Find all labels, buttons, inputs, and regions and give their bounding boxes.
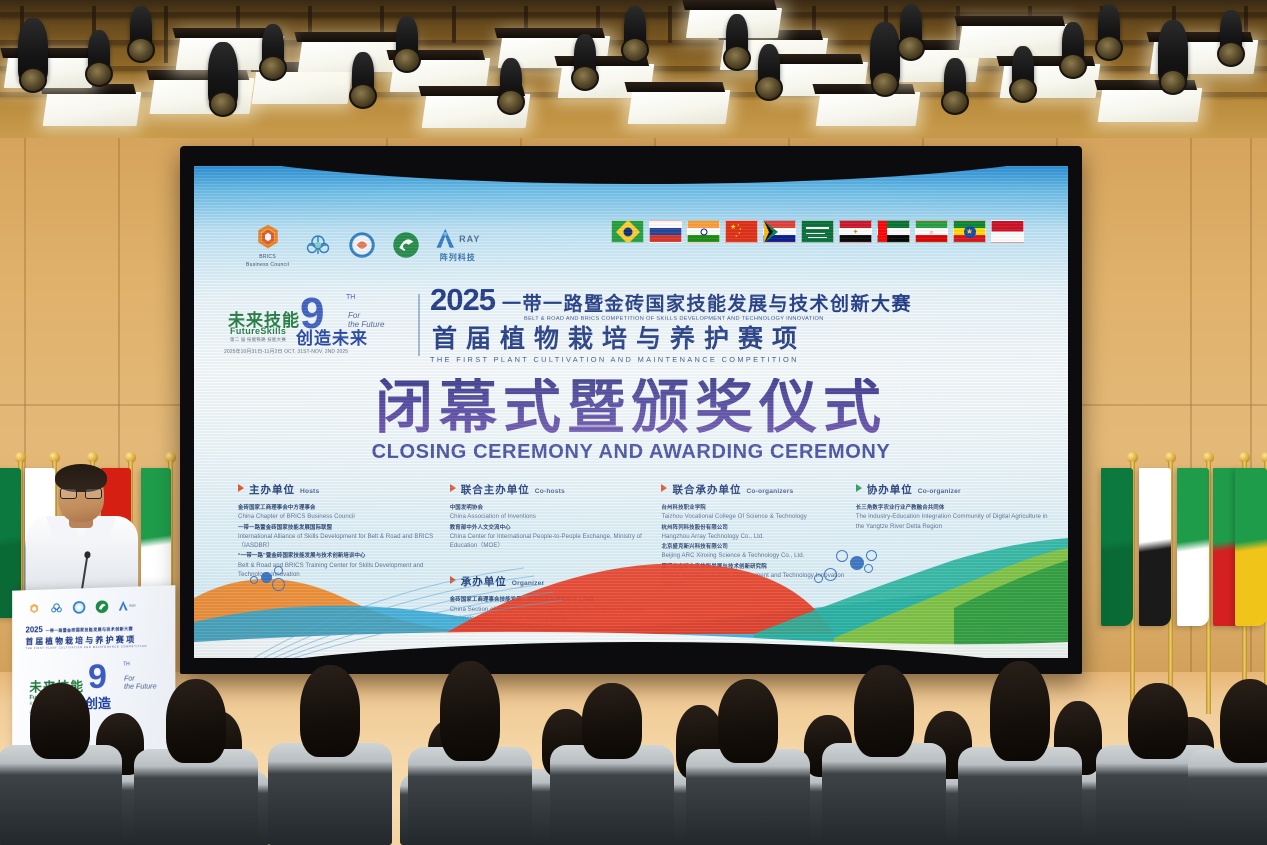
event-year: 2025 (430, 286, 495, 315)
audience-seat (958, 747, 1082, 845)
stage-spotlight (726, 14, 748, 60)
ceiling-led-panel (1098, 88, 1203, 122)
flag-ethiopia: ★ (953, 220, 986, 243)
cohosts-heading-en: Co-hosts (535, 488, 565, 495)
audience-seat (822, 743, 946, 845)
podium-title: 2025 一带一路暨金砖国家技能发展与技术创新大赛 首届植物栽培与养护赛项 TH… (26, 623, 148, 651)
brics-business-council-logo: BRICS Business Council (246, 222, 289, 268)
audience-seat (268, 743, 392, 845)
flag-egypt (1139, 468, 1171, 626)
event-title-cn-line1: 一带一路暨金砖国家技能发展与技术创新大赛 (502, 295, 912, 315)
org-entry-en: China Association of Inventions (450, 512, 662, 521)
stage-spotlight (1012, 46, 1034, 92)
truss-upright (452, 6, 456, 43)
org-entry-en: The Industry-Education Integration Commu… (856, 512, 1050, 530)
org-entry: 台州科技职业学院 Taizhou Vocational College Of S… (661, 504, 855, 522)
flag-south-africa (763, 220, 796, 243)
event-title-en-line2: THE FIRST PLANT CULTIVATION AND MAINTENA… (430, 355, 1044, 364)
stage-spotlight (396, 16, 418, 62)
hosts-heading: 主办单位 Hosts (238, 482, 450, 497)
coorganizer-heading-en: Co-organizer (918, 488, 961, 495)
flag-china: ★★★★★ (725, 220, 758, 243)
led-screen-frame: BRICS Business Council (180, 146, 1082, 674)
audience-head (30, 683, 90, 759)
organizer-column-coorganizer: 协办单位 Co-organizer 长三角数字农业行业产教融合共同体 The I… (856, 482, 1050, 533)
audience-seat (408, 747, 532, 845)
stage-spotlight (624, 6, 646, 52)
array-logo-cn: 阵列科技 (440, 252, 476, 263)
brics-logo-subcaption: Business Council (246, 262, 289, 268)
coorganizer-heading: 协办单位 Co-organizer (856, 482, 1050, 497)
brics-logo-caption: BRICS (259, 254, 276, 260)
audience-head (990, 661, 1050, 761)
stage-spotlight (130, 6, 152, 52)
flag-uae (1177, 468, 1209, 626)
flag-saudi-arabia (1101, 468, 1133, 626)
org-entry: 长三角数字农业行业产教融合共同体 The Industry-Education … (856, 504, 1050, 531)
hosts-heading-cn: 主办单位 (249, 482, 295, 497)
ceremony-headline: 闭幕式暨颁奖仪式 CLOSING CEREMONY AND AWARDING C… (194, 378, 1068, 464)
ceiling-led-panel (43, 92, 142, 126)
stage-spotlight (18, 18, 48, 82)
audience-seat (550, 745, 674, 845)
title-divider (418, 294, 420, 356)
decorative-wave-graphics (194, 538, 1068, 658)
future-skills-en: FutureSkills (230, 326, 286, 336)
org-entry-cn: 长三角数字农业行业产教融合共同体 (856, 504, 1050, 512)
screen-top-curve-mask (194, 166, 1068, 184)
stage-spotlight (574, 34, 596, 80)
audience-head (582, 683, 642, 759)
podium-title-cn1: 一带一路暨金砖国家技能发展与技术创新大赛 (46, 626, 133, 634)
triangle-marker-icon (238, 484, 244, 492)
ceiling-led-panel (628, 90, 731, 124)
speaker-glasses-icon (60, 488, 102, 499)
cohosts-heading-cn: 联合主办单位 (461, 482, 530, 497)
org-entry-cn: 一带一路暨金砖国家技能发展国际联盟 (238, 524, 450, 532)
sponsor-logo-row: BRICS Business Council (246, 222, 480, 268)
audience-seat (1188, 749, 1267, 845)
org-entry-cn: 金砖国家工商理事会中方理事会 (238, 504, 450, 512)
flag-india (687, 220, 720, 243)
array-logo-text: RAY (459, 234, 480, 244)
create-future-cn: 创造未来 (296, 324, 368, 349)
stage-spotlight (944, 58, 966, 104)
stage-spotlight (1062, 22, 1084, 68)
ceiling-lighting-truss (0, 0, 1267, 150)
ceiling-led-panel (149, 78, 254, 114)
stage-spotlight (1098, 4, 1120, 50)
truss-upright (164, 6, 168, 63)
stage-spotlight (352, 52, 374, 98)
org-entry-cn: 台州科技职业学院 (661, 504, 855, 512)
audience-seat (0, 745, 122, 845)
speaker-person (24, 468, 144, 598)
audience-head (1220, 679, 1267, 763)
country-flag-row: ★★★★★✦۞★ (611, 220, 1024, 243)
stage-spotlight (758, 44, 780, 90)
org-entry: 金砖国家工商理事会中方理事会 China Chapter of BRICS Bu… (238, 504, 450, 522)
audience-head (440, 661, 500, 761)
triangle-marker-icon (450, 484, 456, 492)
china-association-of-inventions-logo (303, 230, 333, 260)
flag-egypt: ✦ (839, 220, 872, 243)
coorganizers-heading: 联合承办单位 Co-organizers (661, 482, 855, 497)
event-title-block: 9 TH For the Future 未来技能 FutureSkills 第二… (218, 286, 1044, 364)
coorganizer-heading-cn: 协办单位 (867, 482, 913, 497)
headline-en: CLOSING CEREMONY AND AWARDING CEREMONY (194, 441, 1068, 464)
audience-rows (0, 670, 1267, 845)
org-entry-cn: 教育部中外人文交流中心 (450, 524, 662, 532)
org-entry-en: China Chapter of BRICS Business Council (238, 512, 450, 521)
ceiling-led-panel (816, 92, 921, 126)
stage-spotlight (900, 4, 922, 50)
event-date-line: 2025年10月31日-11月2日 OCT. 31ST-NOV. 2ND 202… (224, 348, 348, 355)
future-skills-th: TH (346, 294, 355, 301)
stage-spotlight (262, 24, 284, 70)
org-entry-en: Taizhou Vocational College Of Science & … (661, 512, 855, 521)
hosts-heading-en: Hosts (300, 488, 319, 495)
podium-th: TH (123, 661, 130, 667)
flag-russia (649, 220, 682, 243)
audience-head (1128, 683, 1188, 759)
flag-indonesia (991, 220, 1024, 243)
flag-saudi-arabia (801, 220, 834, 243)
auditorium-scene: BRICS Business Council (0, 0, 1267, 845)
org-entry: 中国发明协会 China Association of Inventions (450, 504, 662, 522)
stage-spotlight (88, 30, 110, 76)
future-skills-sub: 第二 届 技能铁路 技能大赛 (230, 337, 286, 343)
moe-exchange-centre-logo (347, 230, 377, 260)
flag-iran: ۞ (915, 220, 948, 243)
audience-head (718, 679, 778, 763)
event-title-cn-line2: 首届植物栽培与养护赛项 (432, 325, 1044, 353)
triangle-marker-icon (856, 484, 862, 492)
stage-spotlight (870, 22, 900, 86)
flag-ethiopia (1235, 468, 1267, 626)
podium-year: 2025 (26, 625, 43, 634)
taizhou-vocational-college-logo (391, 230, 421, 260)
audience-head (854, 665, 914, 757)
stage-spotlight (1158, 20, 1188, 84)
audience-head (166, 679, 226, 763)
cohosts-heading: 联合主办单位 Co-hosts (450, 482, 662, 497)
triangle-marker-icon (661, 484, 667, 492)
led-screen-content: BRICS Business Council (194, 166, 1068, 658)
podium-logo-row: RAY (27, 599, 136, 616)
stage-spotlight (1220, 10, 1242, 56)
stage-spotlight (500, 58, 522, 104)
org-entry-cn: 杭州阵列科技股份有限公司 (661, 524, 855, 532)
array-technology-logo: RAY 阵列科技 (435, 227, 480, 263)
headline-cn: 闭幕式暨颁奖仪式 (194, 378, 1068, 439)
stage-spotlight (208, 42, 238, 106)
coorganizers-heading-cn: 联合承办单位 (672, 482, 741, 497)
future-skills-logo: 9 TH For the Future 未来技能 FutureSkills 第二… (218, 290, 408, 360)
flag-brazil (611, 220, 644, 243)
truss-upright (668, 6, 672, 43)
coorganizers-heading-en: Co-organizers (746, 488, 793, 495)
audience-seat (686, 749, 810, 845)
audience-seat (134, 749, 258, 845)
event-title-en-line1: BELT & ROAD AND BRICS COMPETITION OF SKI… (524, 316, 1044, 322)
org-entry-cn: 中国发明协会 (450, 504, 662, 512)
flag-uae (877, 220, 910, 243)
audience-head (300, 665, 360, 757)
